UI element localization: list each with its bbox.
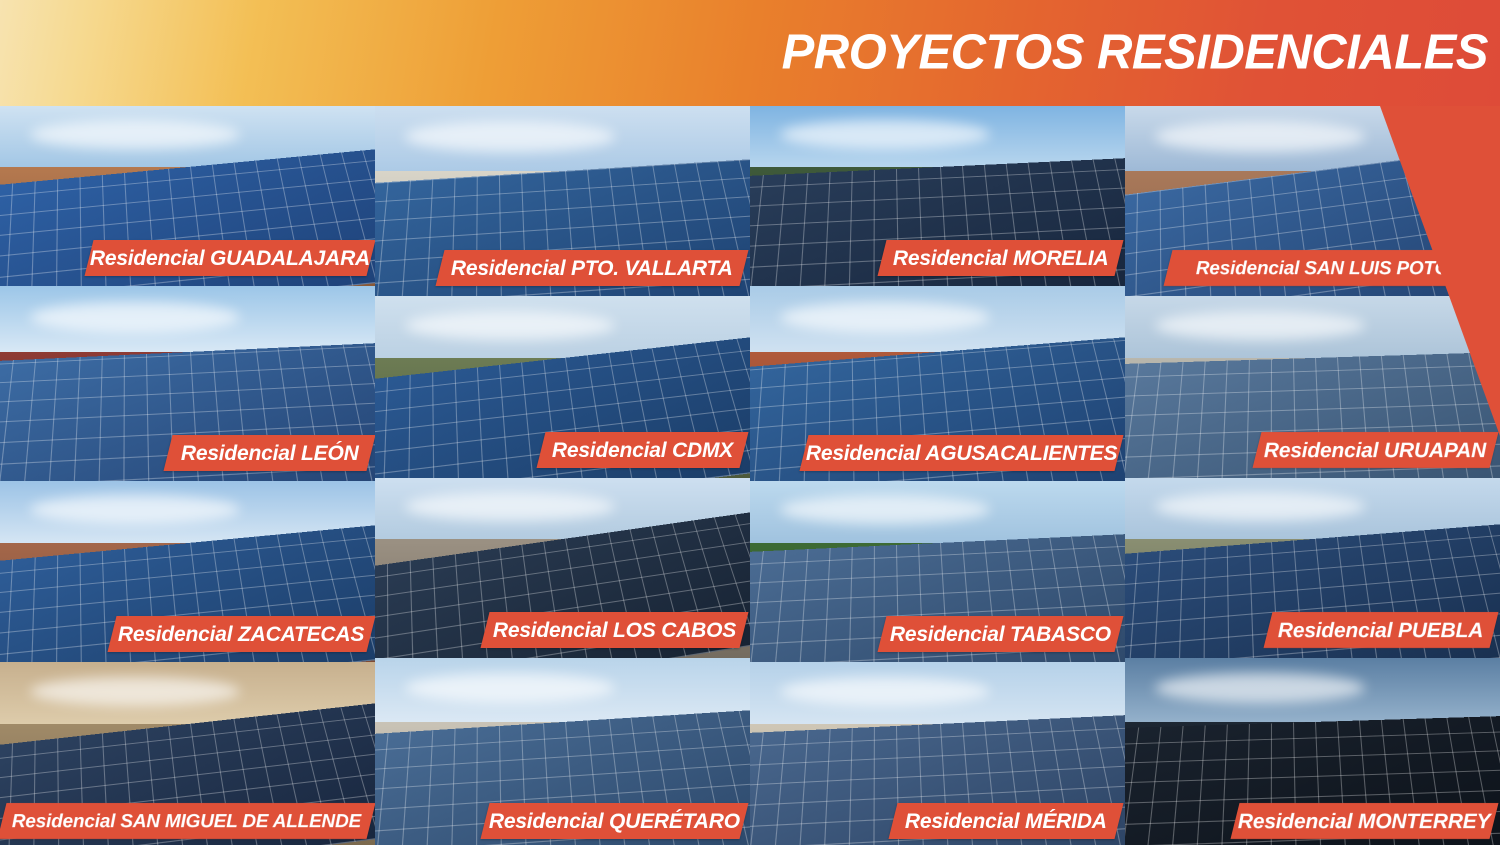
project-label: Residencial LOS CABOS [480, 612, 748, 648]
project-label: Residencial SAN MIGUEL DE ALLENDE [0, 803, 375, 839]
project-label-text: Residencial AGUSACALIENTES [806, 443, 1117, 464]
project-label-text: Residencial PTO. VALLARTA [451, 258, 733, 279]
cloud-decoration [30, 302, 240, 333]
project-label-text: Residencial LOS CABOS [493, 620, 736, 641]
project-label: Residencial QUERÉTARO [480, 803, 748, 839]
project-card[interactable]: Residencial PTO. VALLARTA [375, 106, 750, 296]
project-card[interactable]: Residencial MÉRIDA [750, 662, 1125, 845]
project-label: Residencial URUAPAN [1253, 432, 1499, 468]
project-card[interactable]: Residencial MONTERREY [1125, 658, 1500, 845]
project-card[interactable]: Residencial LEÓN [0, 286, 375, 481]
project-card[interactable]: Residencial AGUSACALIENTES [750, 286, 1125, 481]
project-label: Residencial ZACATECAS [107, 616, 375, 652]
project-label-text: Residencial MONTERREY [1238, 811, 1491, 832]
cloud-decoration [780, 302, 990, 333]
cloud-decoration [1155, 673, 1365, 703]
project-label-text: Residencial GUADALAJARA [90, 248, 370, 269]
project-card[interactable]: Residencial GUADALAJARA [0, 106, 375, 286]
project-label-text: Residencial MÉRIDA [905, 811, 1107, 832]
project-label: Residencial PTO. VALLARTA [436, 250, 749, 286]
project-label-text: Residencial TABASCO [890, 624, 1111, 645]
project-card[interactable]: Residencial MORELIA [750, 106, 1125, 286]
cloud-decoration [780, 677, 990, 706]
project-label-text: Residencial LEÓN [181, 443, 359, 464]
project-label: Residencial MORELIA [878, 240, 1124, 276]
project-label: Residencial CDMX [536, 432, 748, 468]
project-label: Residencial AGUSACALIENTES [799, 435, 1123, 471]
page-title: PROYECTOS RESIDENCIALES [782, 29, 1488, 78]
cloud-decoration [405, 673, 615, 703]
project-card[interactable]: Residencial ZACATECAS [0, 481, 375, 662]
project-label-text: Residencial PUEBLA [1279, 620, 1484, 641]
project-label-text: Residencial QUERÉTARO [489, 811, 740, 832]
project-card[interactable]: Residencial URUAPAN [1125, 296, 1500, 478]
cloud-decoration [30, 677, 240, 706]
cloud-decoration [405, 311, 615, 340]
cloud-decoration [1155, 311, 1365, 340]
project-label: Residencial GUADALAJARA [85, 240, 375, 276]
cloud-decoration [405, 492, 615, 521]
project-label: Residencial MÉRIDA [889, 803, 1124, 839]
project-label: Residencial SAN LUIS POTOSÍ [1163, 250, 1498, 286]
header-banner: PROYECTOS RESIDENCIALES [0, 0, 1500, 106]
cloud-decoration [1155, 492, 1365, 521]
cloud-decoration [780, 120, 990, 149]
project-label-text: Residencial CDMX [552, 440, 733, 461]
project-card[interactable]: Residencial SAN LUIS POTOSÍ [1125, 106, 1500, 296]
project-label-text: Residencial MORELIA [893, 248, 1109, 269]
project-grid: Residencial GUADALAJARAResidencial PTO. … [0, 106, 1500, 845]
project-label-text: Residencial URUAPAN [1265, 440, 1487, 461]
project-label-text: Residencial ZACATECAS [118, 624, 364, 645]
project-card[interactable]: Residencial CDMX [375, 296, 750, 478]
cloud-decoration [1155, 121, 1365, 151]
cloud-decoration [405, 121, 615, 151]
project-label: Residencial LEÓN [163, 435, 375, 471]
project-label-text: Residencial SAN MIGUEL DE ALLENDE [12, 812, 361, 831]
project-card[interactable]: Residencial QUERÉTARO [375, 658, 750, 845]
project-label: Residencial TABASCO [878, 616, 1124, 652]
project-card[interactable]: Residencial TABASCO [750, 481, 1125, 662]
project-label-text: Residencial SAN LUIS POTOSÍ [1195, 259, 1466, 278]
project-card[interactable]: Residencial SAN MIGUEL DE ALLENDE [0, 662, 375, 845]
poster-root: PROYECTOS RESIDENCIALES Residencial GUAD… [0, 0, 1500, 845]
project-card[interactable]: Residencial PUEBLA [1125, 478, 1500, 658]
cloud-decoration [30, 120, 240, 149]
project-label: Residencial PUEBLA [1264, 612, 1499, 648]
project-label: Residencial MONTERREY [1230, 803, 1498, 839]
project-card[interactable]: Residencial LOS CABOS [375, 478, 750, 658]
